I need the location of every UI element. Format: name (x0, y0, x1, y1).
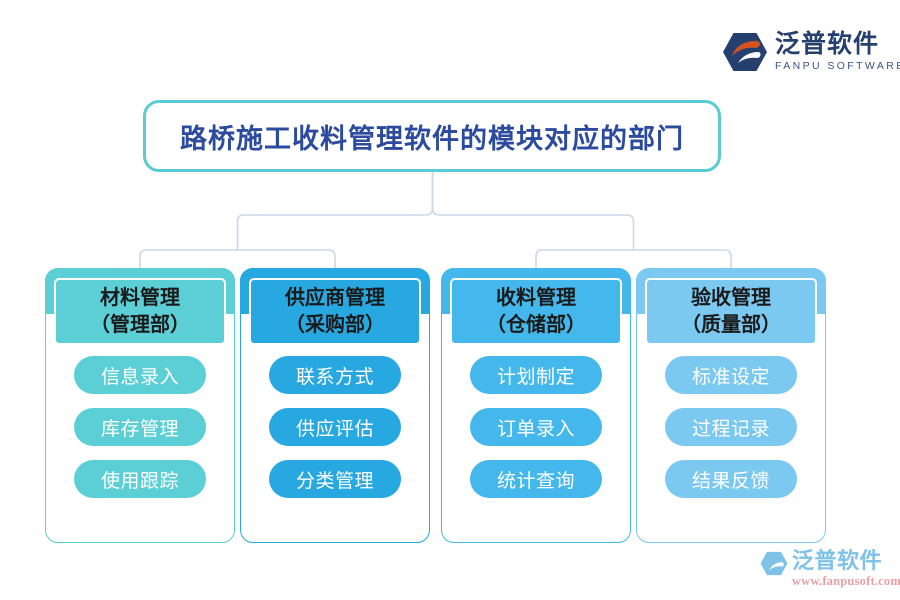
module-pill[interactable]: 结果反馈 (665, 460, 797, 498)
card-header-4: 验收管理 （质量部） (645, 278, 817, 345)
department-card-3[interactable]: 收料管理 （仓储部） 计划制定 订单录入 统计查询 (441, 268, 631, 543)
bottom-watermark: 泛普软件 www.fanpusoft.com (760, 550, 895, 594)
brand-text: 泛普软件 FANPU SOFTWARE (775, 30, 900, 74)
card-items-3: 计划制定 订单录入 统计查询 (441, 356, 631, 498)
module-pill[interactable]: 计划制定 (470, 356, 602, 394)
module-pill[interactable]: 联系方式 (269, 356, 401, 394)
fanpu-hexagon-logo-icon (760, 551, 788, 576)
card-header-dept: （管理部） (90, 312, 190, 338)
fanpu-hexagon-logo-icon (722, 32, 768, 72)
card-header-title: 收料管理 (496, 285, 576, 311)
module-pill[interactable]: 订单录入 (470, 408, 602, 446)
diagram-title-box: 路桥施工收料管理软件的模块对应的部门 (143, 100, 721, 172)
card-header-dept: （采购部） (285, 312, 385, 338)
bottom-watermark-cn: 泛普软件 (792, 550, 900, 573)
department-card-2[interactable]: 供应商管理 （采购部） 联系方式 供应评估 分类管理 (240, 268, 430, 543)
module-pill[interactable]: 统计查询 (470, 460, 602, 498)
module-pill[interactable]: 使用跟踪 (74, 460, 206, 498)
module-pill[interactable]: 标准设定 (665, 356, 797, 394)
department-card-4[interactable]: 验收管理 （质量部） 标准设定 过程记录 结果反馈 (636, 268, 826, 543)
module-pill[interactable]: 库存管理 (74, 408, 206, 446)
card-header-2: 供应商管理 （采购部） (249, 278, 421, 345)
card-header-dept: （仓储部） (486, 312, 586, 338)
brand-name-cn: 泛普软件 (775, 31, 900, 57)
department-card-1[interactable]: 材料管理 （管理部） 信息录入 库存管理 使用跟踪 (45, 268, 235, 543)
card-items-4: 标准设定 过程记录 结果反馈 (636, 356, 826, 498)
module-pill[interactable]: 分类管理 (269, 460, 401, 498)
module-pill[interactable]: 供应评估 (269, 408, 401, 446)
brand-name-en: FANPU SOFTWARE (775, 59, 900, 74)
bottom-watermark-url: www.fanpusoft.com (792, 574, 900, 589)
card-header-1: 材料管理 （管理部） (54, 278, 226, 345)
card-header-3: 收料管理 （仓储部） (450, 278, 622, 345)
page-title: 路桥施工收料管理软件的模块对应的部门 (180, 117, 684, 156)
diagram-canvas: 泛普软件 FANPU SOFTWARE 路桥施工收料管理软件的模块对应的部门 (0, 0, 900, 600)
card-items-1: 信息录入 库存管理 使用跟踪 (45, 356, 235, 498)
bottom-watermark-text: 泛普软件 www.fanpusoft.com (792, 550, 900, 589)
card-header-title: 材料管理 (100, 285, 180, 311)
card-header-dept: （质量部） (681, 312, 781, 338)
card-items-2: 联系方式 供应评估 分类管理 (240, 356, 430, 498)
card-header-title: 供应商管理 (285, 285, 385, 311)
card-header-title: 验收管理 (691, 285, 771, 311)
module-pill[interactable]: 过程记录 (665, 408, 797, 446)
module-pill[interactable]: 信息录入 (74, 356, 206, 394)
brand-logo: 泛普软件 FANPU SOFTWARE (722, 26, 882, 78)
